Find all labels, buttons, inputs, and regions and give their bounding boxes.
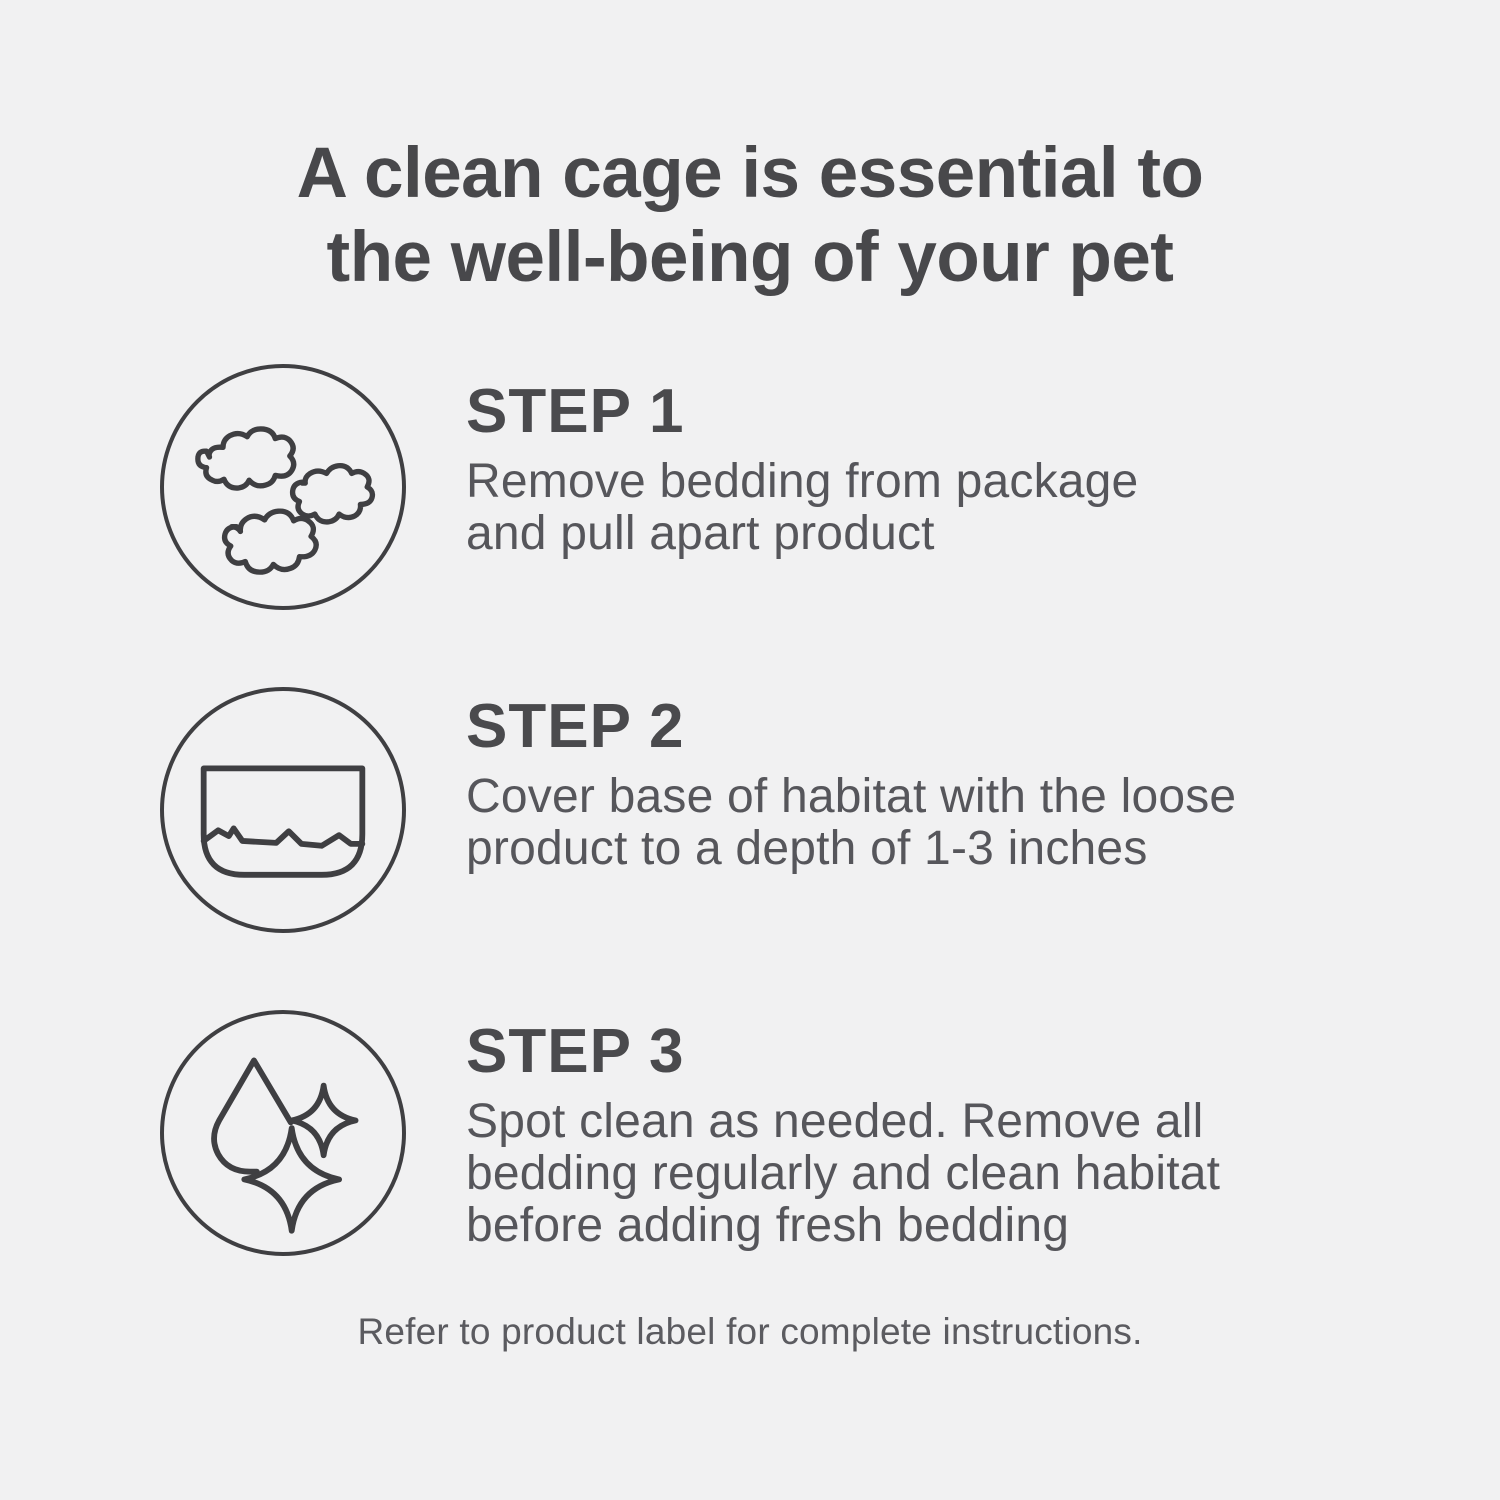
step-description-2: Cover base of habitat with the loose pro…	[466, 771, 1396, 875]
page-title-line-2: the well-being of your pet	[120, 216, 1380, 300]
steps-list: STEP 1 Remove bedding from package and p…	[0, 364, 1500, 1333]
step-description-1: Remove bedding from package and pull apa…	[466, 456, 1396, 560]
water-droplet-sparkle-icon	[160, 1010, 406, 1256]
step-item-2: STEP 2 Cover base of habitat with the lo…	[0, 687, 1500, 1010]
step-description-3: Spot clean as needed. Remove all bedding…	[466, 1096, 1396, 1252]
step-label-3: STEP 3	[466, 1020, 1396, 1084]
page-title-line-1: A clean cage is essential to	[297, 134, 1204, 213]
step-label-2: STEP 2	[466, 695, 1396, 759]
bedding-clouds-icon	[160, 364, 406, 610]
step-text-3: STEP 3 Spot clean as needed. Remove all …	[466, 1020, 1396, 1252]
footnote-text: Refer to product label for complete inst…	[0, 1310, 1500, 1354]
step-item-1: STEP 1 Remove bedding from package and p…	[0, 364, 1500, 687]
step-description-3-line-3: before adding fresh bedding	[466, 1200, 1396, 1252]
page-title: A clean cage is essential to the well-be…	[0, 132, 1500, 300]
step-description-3-line-1: Spot clean as needed. Remove all	[466, 1096, 1396, 1148]
step-description-3-line-2: bedding regularly and clean habitat	[466, 1148, 1396, 1200]
step-description-1-line-1: Remove bedding from package	[466, 456, 1396, 508]
step-description-2-line-2: product to a depth of 1-3 inches	[466, 823, 1396, 875]
step-description-2-line-1: Cover base of habitat with the loose	[466, 771, 1396, 823]
step-text-1: STEP 1 Remove bedding from package and p…	[466, 380, 1396, 560]
step-item-3: STEP 3 Spot clean as needed. Remove all …	[0, 1010, 1500, 1333]
habitat-tank-icon	[160, 687, 406, 933]
infographic-page: A clean cage is essential to the well-be…	[0, 0, 1500, 1500]
step-text-2: STEP 2 Cover base of habitat with the lo…	[466, 695, 1396, 875]
step-description-1-line-2: and pull apart product	[466, 508, 1396, 560]
step-label-1: STEP 1	[466, 380, 1396, 444]
